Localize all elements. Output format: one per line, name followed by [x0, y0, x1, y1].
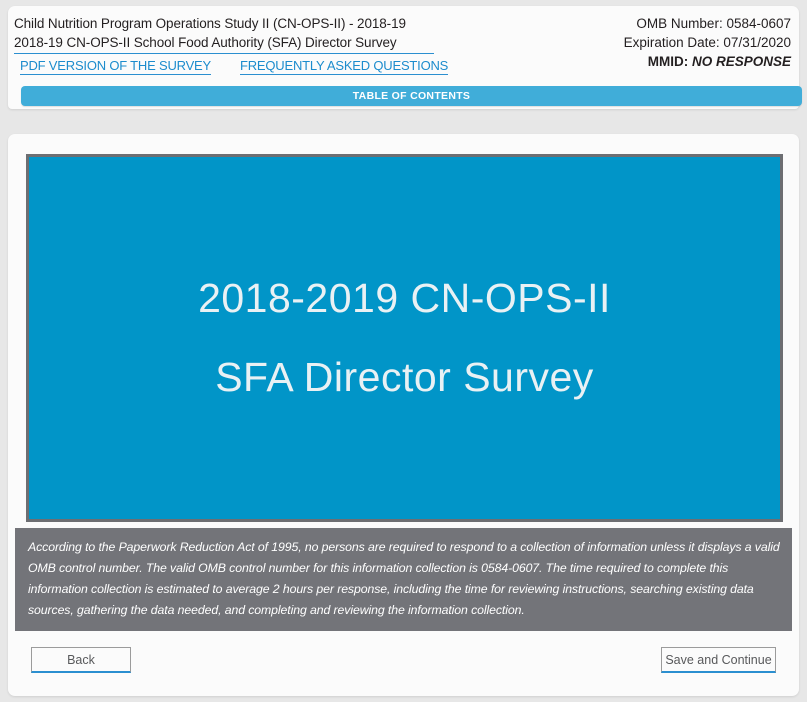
- mmid-status: MMID: NO RESPONSE: [491, 52, 791, 71]
- expiration-date: Expiration Date: 07/31/2020: [491, 33, 791, 52]
- mmid-value: NO RESPONSE: [692, 54, 791, 69]
- save-and-continue-button[interactable]: Save and Continue: [661, 647, 776, 673]
- header-links: PDF VERSION OF THE SURVEY FREQUENTLY ASK…: [14, 57, 454, 77]
- survey-title-banner: 2018-2019 CN-OPS-II SFA Director Survey: [26, 154, 783, 522]
- pdf-version-link[interactable]: PDF VERSION OF THE SURVEY: [20, 57, 211, 75]
- mmid-label: MMID:: [648, 54, 689, 69]
- header-left-block: Child Nutrition Program Operations Study…: [14, 14, 454, 77]
- omb-number: OMB Number: 0584-0607: [491, 14, 791, 33]
- survey-title: 2018-19 CN-OPS-II School Food Authority …: [14, 33, 434, 54]
- paperwork-reduction-act-disclaimer: According to the Paperwork Reduction Act…: [15, 528, 792, 631]
- banner-title-line-1: 2018-2019 CN-OPS-II: [198, 273, 611, 324]
- main-content-card: 2018-2019 CN-OPS-II SFA Director Survey …: [8, 134, 799, 696]
- faq-link[interactable]: FREQUENTLY ASKED QUESTIONS: [240, 57, 448, 75]
- header-card: Child Nutrition Program Operations Study…: [8, 6, 799, 109]
- navigation-button-row: Back Save and Continue: [8, 639, 799, 679]
- study-title: Child Nutrition Program Operations Study…: [14, 14, 454, 33]
- table-of-contents-button[interactable]: TABLE OF CONTENTS: [21, 86, 802, 106]
- header-right-block: OMB Number: 0584-0607 Expiration Date: 0…: [491, 14, 791, 71]
- table-of-contents-label: TABLE OF CONTENTS: [353, 90, 470, 102]
- banner-title-line-2: SFA Director Survey: [215, 352, 594, 403]
- back-button[interactable]: Back: [31, 647, 131, 673]
